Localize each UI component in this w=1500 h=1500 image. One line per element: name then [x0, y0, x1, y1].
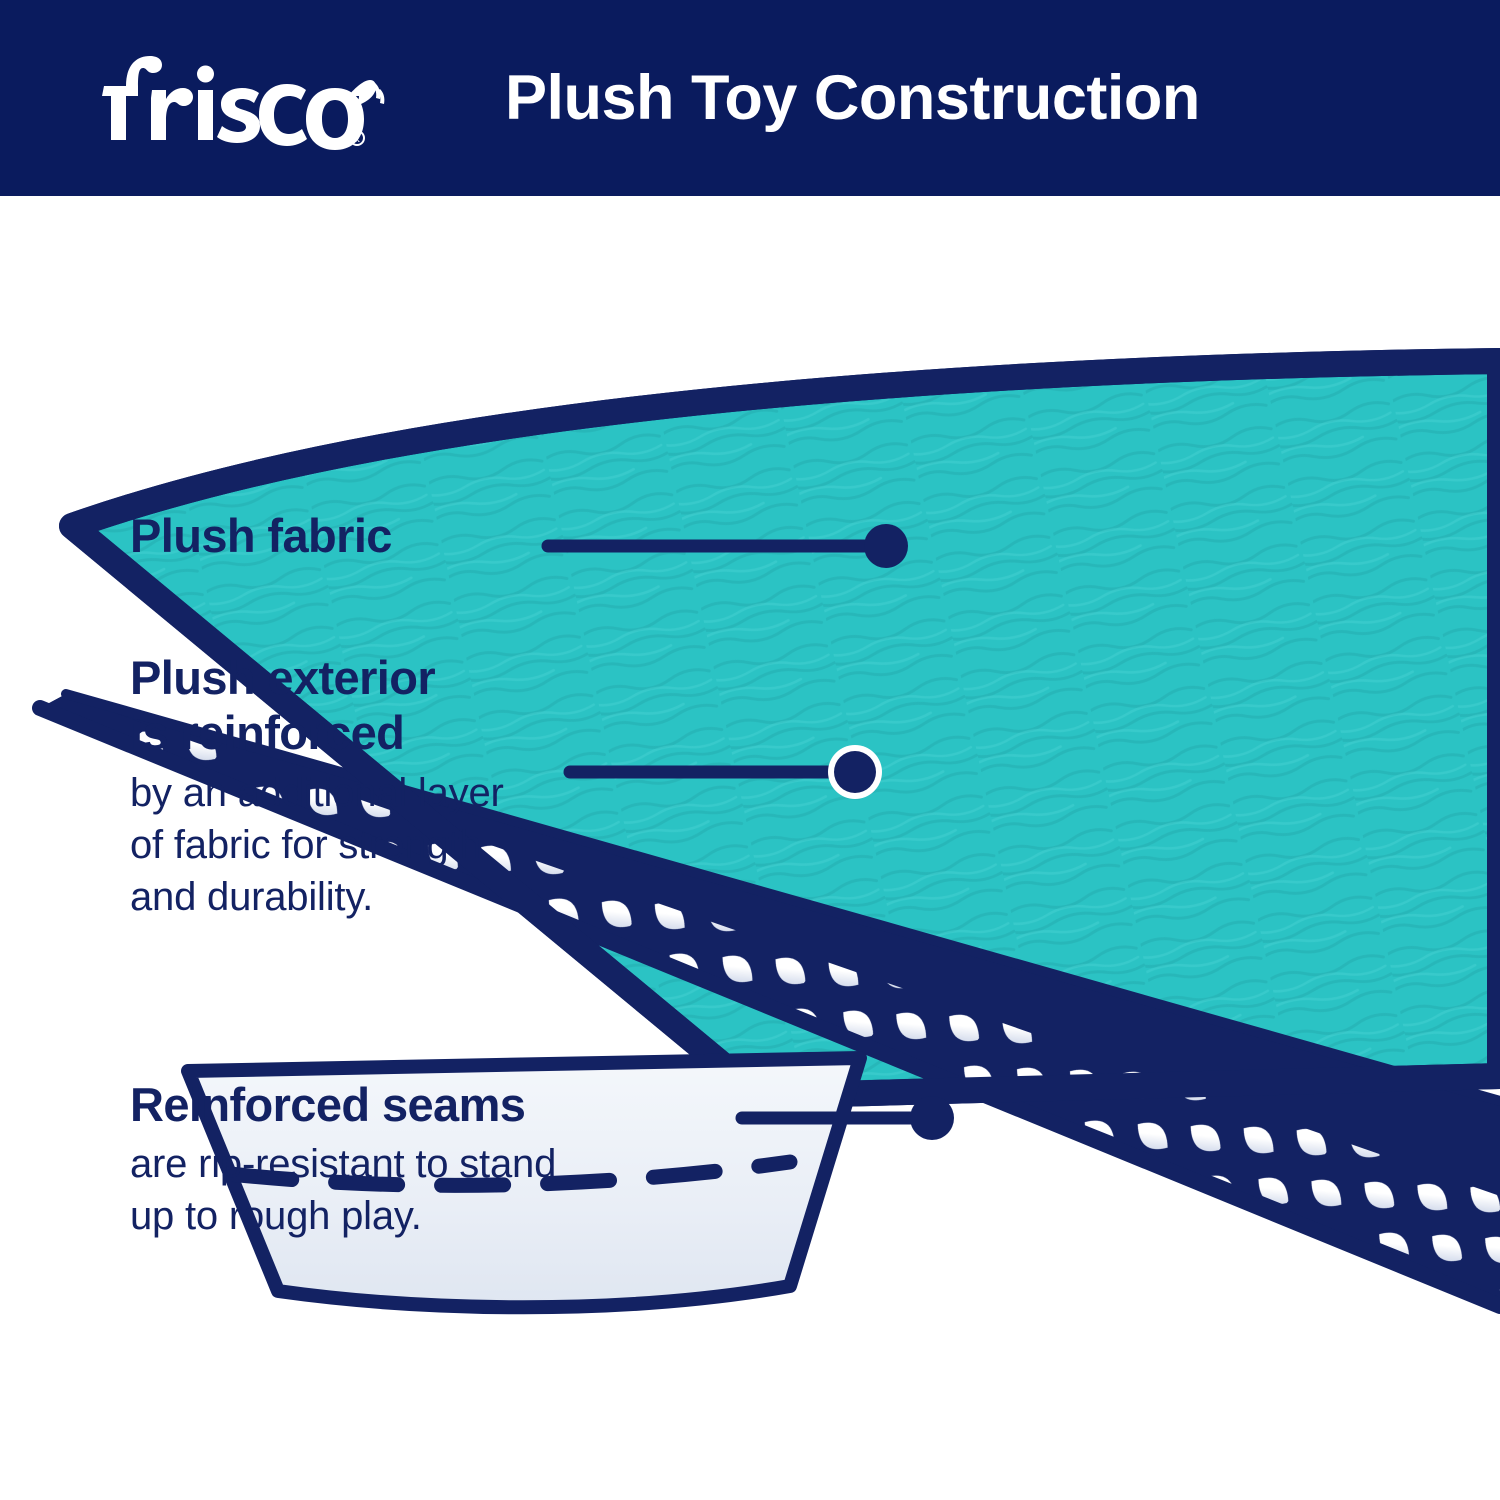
callout-dot-plush-exterior	[834, 751, 876, 793]
callout-dot-reinforced-seams	[910, 1096, 954, 1140]
label-plush-exterior-heading: Plush exterior is reinforced	[130, 650, 504, 761]
callout-dot-plush-fabric	[864, 524, 908, 568]
page-title: Plush Toy Construction	[505, 46, 1405, 150]
label-reinforced-seams-body: are rip-resistant to stand up to rough p…	[130, 1138, 556, 1242]
label-plush-fabric-heading: Plush fabric	[130, 508, 392, 563]
label-plush-exterior-body: by an additional layer of fabric for str…	[130, 767, 504, 923]
svg-text:R: R	[354, 134, 360, 144]
frisco-logo[interactable]: R	[86, 46, 386, 150]
frisco-wordmark-icon: R	[86, 46, 386, 150]
label-plush-fabric: Plush fabric	[130, 508, 392, 563]
header-bar: R Plush Toy Construction	[0, 0, 1500, 196]
label-plush-exterior: Plush exterior is reinforced by an addit…	[130, 650, 504, 923]
label-reinforced-seams: Reinforced seams are rip-resistant to st…	[130, 1077, 556, 1242]
label-reinforced-seams-heading: Reinforced seams	[130, 1077, 556, 1132]
